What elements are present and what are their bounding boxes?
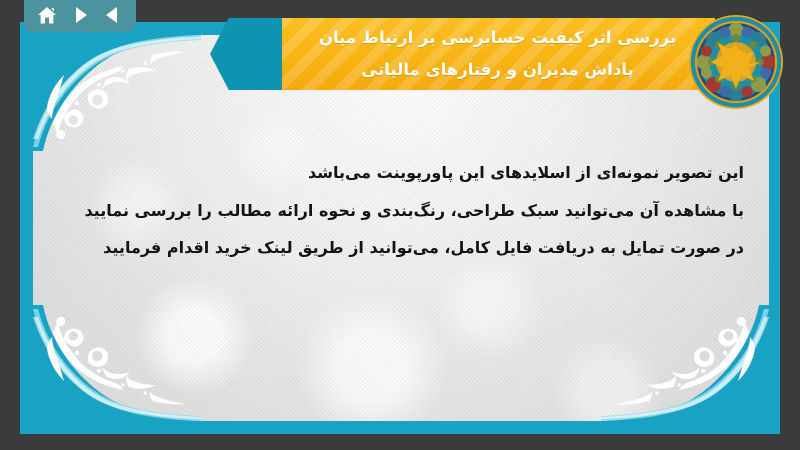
slide-viewer: این تصویر نمونه‌ای از اسلایدهای این پاور… xyxy=(0,0,800,450)
body-line-3: در صورت تمایل به دریافت فایل کامل، می‌تو… xyxy=(64,229,744,267)
triangle-right-icon xyxy=(71,6,89,24)
previous-slide-button[interactable] xyxy=(99,3,127,27)
slide-body-text: این تصویر نمونه‌ای از اسلایدهای این پاور… xyxy=(64,154,744,267)
medallion-ornament xyxy=(688,14,784,110)
body-line-2: با مشاهده آن می‌توانید سبک طراحی، رنگ‌بن… xyxy=(64,192,744,230)
title-banner: بررسی اثر کیفیت حسابرسی بر ارتباط میان پ… xyxy=(210,18,715,90)
page-title: بررسی اثر کیفیت حسابرسی بر ارتباط میان پ… xyxy=(288,22,707,86)
navigation-toolbar xyxy=(24,0,136,32)
body-line-1: این تصویر نمونه‌ای از اسلایدهای این پاور… xyxy=(64,154,744,192)
home-icon xyxy=(37,6,57,25)
next-slide-button[interactable] xyxy=(66,3,94,27)
home-button[interactable] xyxy=(33,3,61,27)
triangle-left-icon xyxy=(104,6,122,24)
title-banner-arrow xyxy=(210,18,282,90)
